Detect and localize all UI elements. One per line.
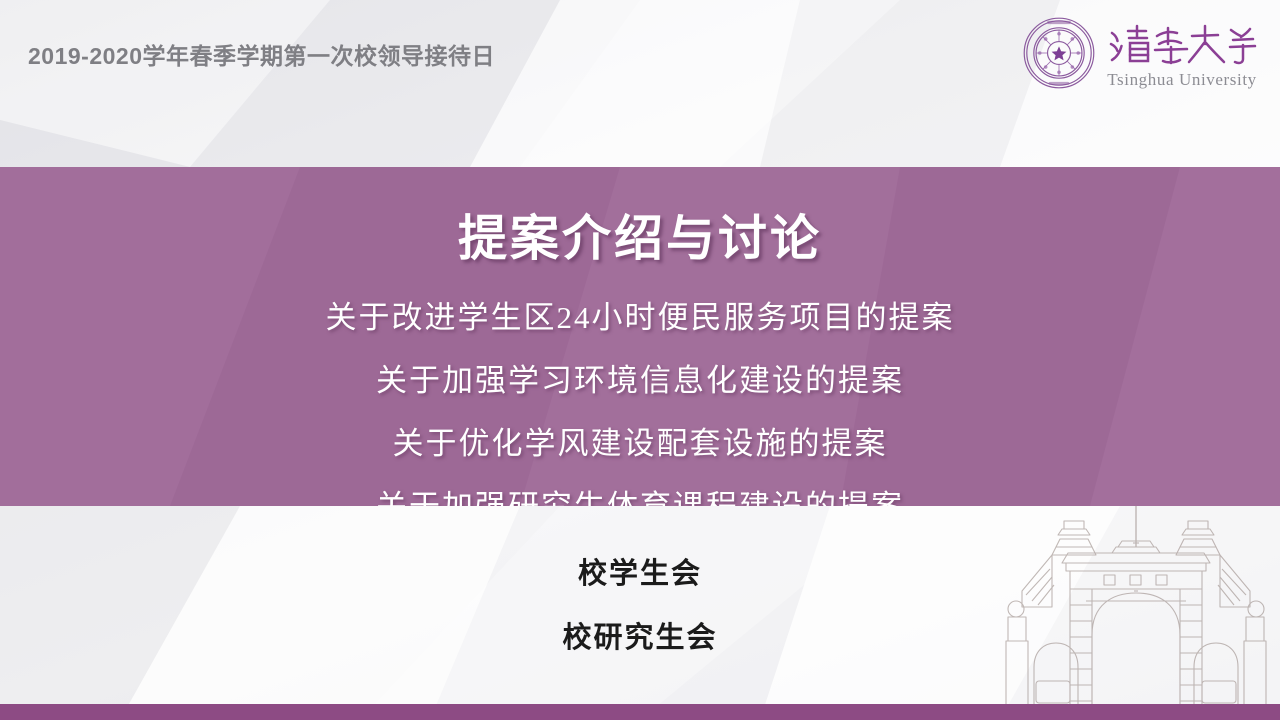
proposal-list: 关于改进学生区24小时便民服务项目的提案 关于加强学习环境信息化建设的提案 关于… [326, 292, 955, 506]
presentation-slide: 2019-2020学年春季学期第一次校领导接待日 [0, 0, 1280, 720]
proposal-item: 关于加强研究生体育课程建设的提案 [376, 481, 904, 506]
logo-english-name: Tsinghua University [1107, 70, 1257, 90]
proposal-item: 关于加强学习环境信息化建设的提案 [376, 355, 904, 400]
organization-list: 校学生会 校研究生会 [0, 550, 1280, 656]
main-title: 提案介绍与讨论 [458, 199, 822, 270]
proposal-item: 关于改进学生区24小时便民服务项目的提案 [326, 292, 955, 337]
slide-footer: 校学生会 校研究生会 [0, 506, 1280, 704]
tsinghua-seal-icon [1022, 16, 1096, 90]
header-title: 2019-2020学年春季学期第一次校领导接待日 [28, 37, 495, 71]
organization-name: 校学生会 [578, 550, 702, 592]
title-band: 提案介绍与讨论 关于改进学生区24小时便民服务项目的提案 关于加强学习环境信息化… [0, 167, 1280, 506]
logo-chinese-name [1106, 18, 1258, 68]
slide-header: 2019-2020学年春季学期第一次校领导接待日 [0, 0, 1280, 167]
university-logo: Tsinghua University [1022, 16, 1258, 90]
organization-name: 校研究生会 [562, 614, 717, 656]
logo-wordmark: Tsinghua University [1106, 16, 1258, 90]
proposal-item: 关于优化学风建设配套设施的提案 [393, 418, 888, 463]
bottom-accent-bar [0, 704, 1280, 720]
